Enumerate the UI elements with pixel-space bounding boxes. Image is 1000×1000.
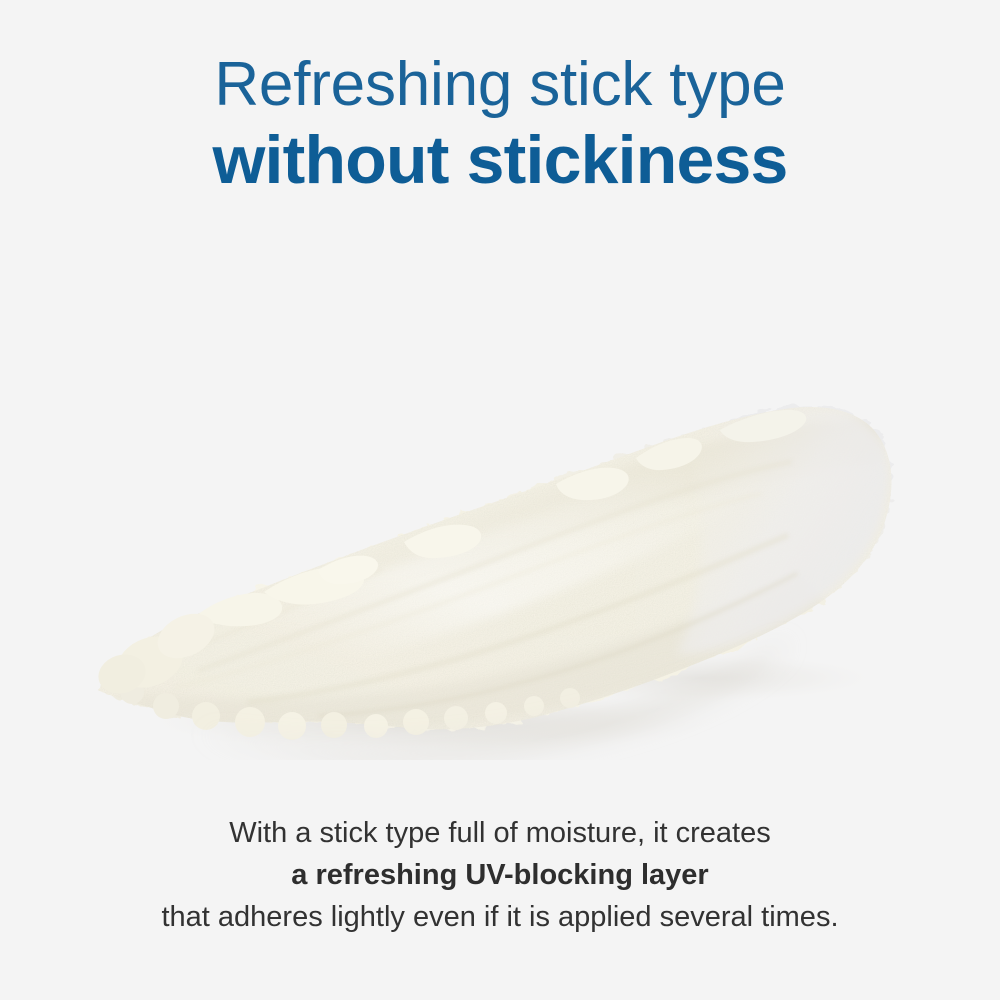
cream-body-group — [60, 380, 940, 760]
caption-line-2: a refreshing UV-blocking layer — [0, 854, 1000, 896]
cream-swatch-svg — [0, 270, 1000, 760]
headline-line-1: Refreshing stick type — [0, 48, 1000, 122]
caption-block: With a stick type full of moisture, it c… — [0, 812, 1000, 938]
caption-line-3: that adheres lightly even if it is appli… — [0, 896, 1000, 938]
caption-line-1: With a stick type full of moisture, it c… — [0, 812, 1000, 854]
promo-page: Refreshing stick type without stickiness — [0, 0, 1000, 1000]
cream-swatch-image — [0, 270, 1000, 760]
headline-line-2: without stickiness — [0, 122, 1000, 198]
headline-block: Refreshing stick type without stickiness — [0, 48, 1000, 198]
